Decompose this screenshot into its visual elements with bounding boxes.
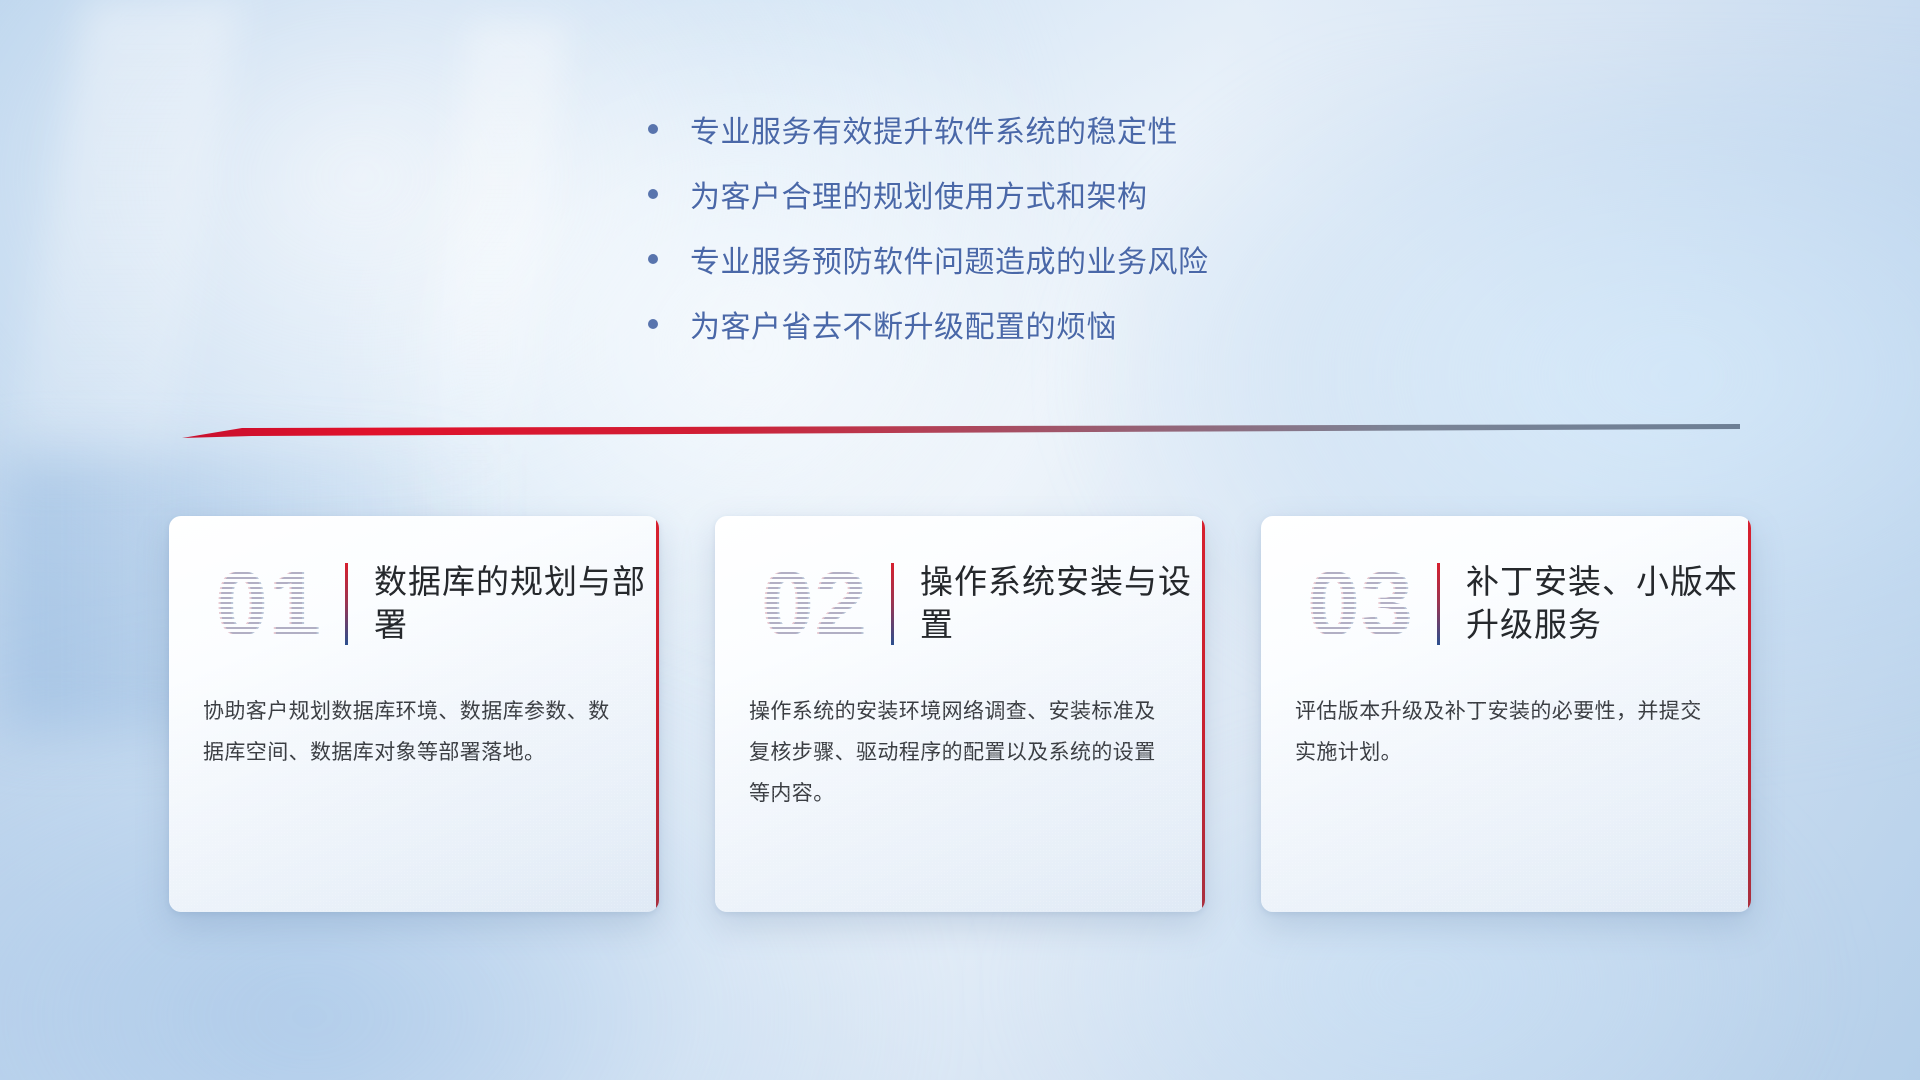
bullet-label: 专业服务预防软件问题造成的业务风险 [690, 237, 1209, 281]
card-title-rule [891, 563, 894, 645]
card-header: 01 01 数据库的规划与部署 [169, 516, 659, 692]
bullet-dot-icon [648, 319, 658, 329]
benefits-bullet-list: 专业服务有效提升软件系统的稳定性 为客户合理的规划使用方式和架构 专业服务预防软… [0, 96, 1920, 356]
card-title-rule [345, 563, 348, 645]
service-card-02[interactable]: 02 02 操作系统安装与设置 操作系统的安装环境网络调查、安装标准及复核步骤、… [715, 516, 1205, 912]
list-item: 专业服务预防软件问题造成的业务风险 [640, 226, 1280, 291]
card-title: 补丁安装、小版本升级服务 [1466, 561, 1751, 647]
bullet-label: 为客户省去不断升级配置的烦恼 [690, 302, 1117, 346]
tapered-rule-divider-icon [182, 424, 1740, 442]
card-title: 数据库的规划与部署 [374, 561, 659, 647]
bullet-dot-icon [648, 124, 658, 134]
card-title: 操作系统安装与设置 [920, 561, 1205, 647]
card-number-glyph: 01 [203, 552, 337, 656]
card-header: 02 02 操作系统安装与设置 [715, 516, 1205, 692]
list-item: 为客户省去不断升级配置的烦恼 [640, 291, 1280, 356]
card-header: 03 03 补丁安装、小版本升级服务 [1261, 516, 1751, 692]
card-body-text: 操作系统的安装环境网络调查、安装标准及复核步骤、驱动程序的配置以及系统的设置等内… [715, 692, 1205, 815]
card-title-rule [1437, 563, 1440, 645]
card-number-badge: 01 01 [203, 552, 337, 656]
list-item: 为客户合理的规划使用方式和架构 [640, 161, 1280, 226]
service-card-01[interactable]: 01 01 数据库的规划与部署 协助客户规划数据库环境、数据库参数、数据库空间、… [169, 516, 659, 912]
bullet-label: 专业服务有效提升软件系统的稳定性 [690, 107, 1178, 151]
card-number-glyph: 02 [749, 552, 883, 656]
list-item: 专业服务有效提升软件系统的稳定性 [640, 96, 1280, 161]
card-number-badge: 02 02 [749, 552, 883, 656]
bullet-dot-icon [648, 254, 658, 264]
service-card-list: 01 01 数据库的规划与部署 协助客户规划数据库环境、数据库参数、数据库空间、… [0, 516, 1920, 912]
section-divider [182, 424, 1740, 442]
card-body-text: 协助客户规划数据库环境、数据库参数、数据库空间、数据库对象等部署落地。 [169, 692, 659, 774]
card-number-badge: 03 03 [1295, 552, 1429, 656]
bullet-dot-icon [648, 189, 658, 199]
service-card-03[interactable]: 03 03 补丁安装、小版本升级服务 评估版本升级及补丁安装的必要性，并提交实施… [1261, 516, 1751, 912]
card-body-text: 评估版本升级及补丁安装的必要性，并提交实施计划。 [1261, 692, 1751, 774]
bullet-label: 为客户合理的规划使用方式和架构 [690, 172, 1148, 216]
card-number-glyph: 03 [1295, 552, 1429, 656]
